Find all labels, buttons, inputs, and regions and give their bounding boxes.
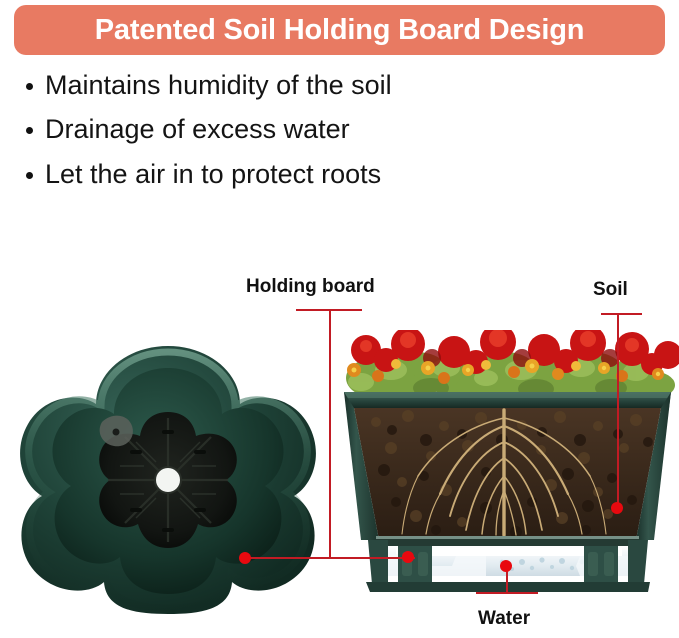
infographic-root: Patented Soil Holding Board Design Maint… — [0, 0, 679, 638]
bullet-icon — [26, 83, 33, 90]
list-item: Maintains humidity of the soil — [26, 70, 586, 101]
leader-line-soil-cap — [601, 313, 642, 315]
board-clip-screw — [113, 429, 120, 436]
plant-foliage — [346, 330, 679, 402]
leader-line-holding-board-bar — [245, 557, 415, 559]
list-item: Drainage of excess water — [26, 114, 586, 145]
clover-planter-illustration — [8, 338, 328, 618]
base-bottom-rail — [366, 582, 650, 592]
product-photo-clover-planter — [8, 338, 328, 618]
feature-list: Maintains humidity of the soil Drainage … — [26, 70, 586, 203]
page-title: Patented Soil Holding Board Design — [95, 14, 584, 47]
bullet-icon — [26, 127, 33, 134]
callout-label-soil: Soil — [593, 279, 628, 301]
leader-dot-holding-board-left — [239, 552, 251, 564]
callout-label-holding-board: Holding board — [246, 276, 375, 298]
feature-text: Maintains humidity of the soil — [45, 70, 392, 101]
pot-rim-highlight — [344, 392, 671, 398]
leader-dot-soil — [611, 502, 623, 514]
base-foot-outer-left — [368, 540, 388, 584]
list-item: Let the air in to protect roots — [26, 159, 586, 190]
callout-label-water: Water — [478, 608, 530, 630]
leader-dot-holding-board-right — [402, 551, 414, 563]
feature-text: Let the air in to protect roots — [45, 159, 381, 190]
header-banner: Patented Soil Holding Board Design — [14, 5, 665, 55]
base-foot-outer-right — [628, 540, 648, 584]
feature-text: Drainage of excess water — [45, 114, 350, 145]
leader-line-soil-stem — [617, 313, 619, 509]
leader-dot-water — [500, 560, 512, 572]
leader-line-holding-board-stem — [329, 309, 331, 558]
holding-board-top-edge — [376, 536, 639, 539]
bullet-icon — [26, 172, 33, 179]
